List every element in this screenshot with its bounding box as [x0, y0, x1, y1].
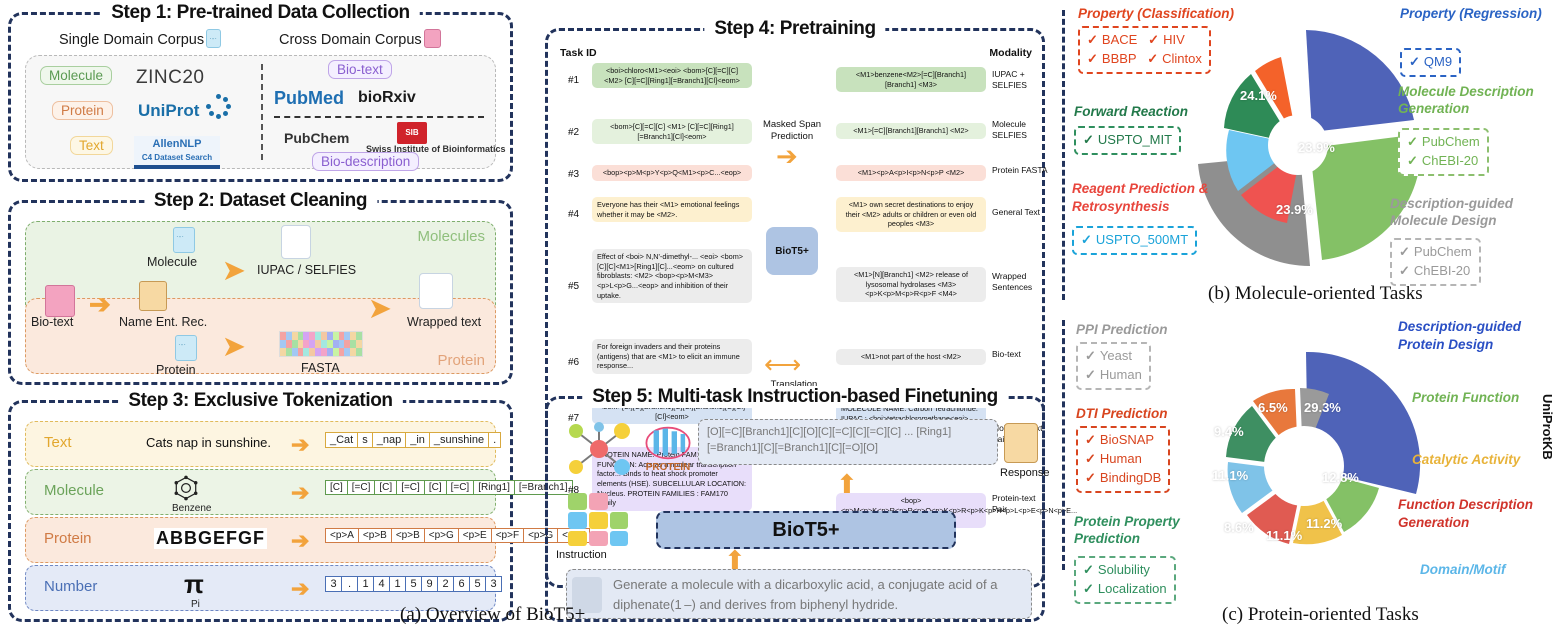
pie-c-value-0: 29.3%	[1304, 400, 1341, 415]
token: <p>B	[358, 528, 392, 543]
annobox-dti-prediction: ✓BioSNAP ✓Human ✓BindingDB	[1076, 426, 1170, 493]
task-modality: Wrapped Sentences	[992, 271, 1048, 292]
check-icon: ✓	[1081, 232, 1092, 247]
check-icon: ✓	[1407, 153, 1418, 168]
node-ner-label: Name Ent. Rec.	[119, 315, 207, 329]
arrow-biotext-to-ner: ➔	[89, 291, 111, 317]
pie-c-value-6: 9.4%	[1214, 424, 1244, 439]
selfies-doc-icon	[281, 225, 311, 259]
logo-biorxiv: bioRxiv	[358, 89, 416, 107]
logo-pubchem: PubChem	[284, 130, 349, 146]
logo-zinc20: ZINC20	[136, 67, 204, 89]
step2-title: Step 2: Dataset Cleaning	[144, 190, 377, 212]
task-id: #6	[568, 357, 579, 368]
row-label-text: Text	[44, 434, 72, 451]
arrow-tokenize-text: ➔	[291, 432, 309, 458]
token: _sunshine	[429, 432, 489, 448]
row-label-number: Number	[44, 578, 97, 595]
anno-domain-motif: Domain/Motif	[1420, 562, 1506, 577]
uniprot-dots-icon	[204, 94, 230, 120]
arrow-to-iupac: ➤	[223, 257, 245, 283]
row-source-molecule: Benzene	[172, 503, 211, 514]
token: [=C]	[347, 480, 376, 495]
check-icon: ✓	[1083, 562, 1094, 577]
pie-b-value-0: 24.1%	[1240, 88, 1277, 103]
token: <p>A	[325, 528, 359, 543]
step1-title: Step 1: Pre-trained Data Collection	[101, 2, 420, 24]
node-molecule-label: Molecule	[147, 255, 197, 269]
pie-b-value-2: 23.9%	[1276, 202, 1313, 217]
pie-c-value-3: 11.1%	[1266, 528, 1302, 543]
task-output-cell: <M1>benzene<M2>[=C][Branch1][Branch1] <M…	[836, 67, 986, 92]
tag-text: Text	[70, 136, 113, 155]
row-source-protein: ABBGEFGF	[154, 528, 267, 549]
anno-catalytic-activity: Catalytic Activity	[1412, 452, 1520, 467]
logo-uniprot: UniProt	[138, 101, 199, 121]
check-icon: ✓	[1087, 32, 1098, 47]
document-stack-icon	[424, 29, 441, 48]
token: _nap	[372, 432, 406, 448]
task-modality: Molecule SELFIES	[992, 119, 1046, 140]
benzene-structure-icon	[166, 473, 206, 503]
token: [C]	[374, 480, 397, 495]
token: <p>F	[491, 528, 524, 543]
task-output-cell: <M1> own secret destinations to enjoy th…	[836, 197, 986, 232]
number-blocks-icon	[566, 491, 630, 547]
token: [=C]	[446, 480, 475, 495]
token: <p>G	[424, 528, 459, 543]
arrow-to-wrapped: ➤	[369, 295, 391, 321]
instruction-box: Generate a molecule with a dicarboxylic …	[566, 569, 1032, 619]
response-avatar-icon	[1004, 423, 1038, 463]
step3-title: Step 3: Exclusive Tokenization	[118, 390, 402, 412]
token: 3	[485, 576, 502, 592]
task-input-cell: For foreign invaders and their proteins …	[592, 339, 752, 374]
node-fasta-label: FASTA	[301, 361, 340, 375]
task-output-cell: <M1>[=C][Branch1][Branch1] <M2>	[836, 123, 986, 139]
row-label-protein: Protein	[44, 530, 92, 547]
biotext-stack-icon	[45, 285, 75, 317]
token: 5	[469, 576, 486, 592]
arrow-to-fasta: ➤	[223, 333, 245, 359]
protein-pie-chart: 29.3% 12.8% 11.2% 11.1% 8.6% 11.1% 9.4% …	[1196, 318, 1426, 598]
tokens-number: 3 . 1 4 1 5 9 2 6 5 3	[326, 576, 502, 592]
task-output-cell: <M1>not part of the host <M2>	[836, 349, 986, 365]
step4-title: Step 4: Pretraining	[704, 18, 885, 40]
token: .	[488, 432, 501, 448]
token: 4	[373, 576, 390, 592]
step1-corpus-box: Molecule Protein Text ZINC20 UniProt All…	[25, 55, 496, 169]
anno-dti-prediction: DTI Prediction	[1076, 406, 1168, 421]
task-id: #1	[568, 75, 579, 86]
annobox-protein-property-prediction: ✓Solubility ✓Localization	[1074, 556, 1176, 604]
single-domain-corpus-heading: Single Domain Corpus	[59, 29, 221, 48]
task-input-cell: Everyone has their <M1> emotional feelin…	[592, 197, 752, 222]
token: _in	[405, 432, 430, 448]
pie-c-value-4: 8.6%	[1224, 520, 1254, 535]
token: 6	[453, 576, 470, 592]
check-icon: ✓	[1409, 54, 1420, 69]
logo-allennlp: AllenNLP C4 Dataset Search	[134, 136, 220, 169]
panel-divider-bottom	[1062, 320, 1065, 570]
token: [Ring1]	[473, 480, 515, 495]
check-icon: ✓	[1083, 581, 1094, 596]
annobox-property-regression: ✓QM9	[1400, 48, 1461, 77]
step2-panel: Step 2: Dataset Cleaning Molecules Prote…	[8, 200, 513, 385]
protein-zone-label: Protein	[437, 352, 485, 369]
arrow-tokenize-protein: ➔	[291, 528, 309, 554]
annobox-ppi-prediction: ✓Yeast ✓Human	[1076, 342, 1151, 390]
molecules-zone-label: Molecules	[417, 228, 485, 245]
caption-a: (a) Overview of BioT5+	[400, 604, 585, 626]
response-box: [O][=C][Branch1][C][O][C][=C][C][=C][C] …	[698, 419, 998, 465]
response-label: Response	[1000, 467, 1050, 479]
tag-bio-description: Bio-description	[312, 152, 419, 171]
check-icon: ✓	[1083, 132, 1094, 147]
token: 9	[421, 576, 438, 592]
protein-logo-icon: PROTEIN	[640, 425, 696, 477]
pie-c-value-5: 11.1%	[1212, 468, 1248, 483]
task-id: #4	[568, 209, 579, 220]
molecule-doc-icon	[173, 227, 195, 253]
task-id: #5	[568, 281, 579, 292]
token: 1	[389, 576, 406, 592]
token: 2	[437, 576, 454, 592]
task-modality: General Text	[992, 207, 1048, 218]
cross-domain-corpus-heading: Cross Domain Corpus	[279, 29, 441, 48]
task-id: #3	[568, 169, 579, 180]
tag-protein: Protein	[52, 101, 113, 120]
check-icon: ✓	[1399, 244, 1410, 259]
task-input-cell: <boi>chloro<M1><eoi> <bom>[C][=C][C] <M2…	[592, 63, 752, 88]
arrow-tokenize-number: ➔	[291, 576, 309, 602]
annobox-molecule-description-generation: ✓PubChem ✓ChEBI-20	[1398, 128, 1489, 176]
check-icon: ✓	[1085, 432, 1096, 447]
cross-corpus-divider	[274, 116, 484, 118]
row-source-number: Pi	[191, 599, 200, 610]
document-icon	[206, 29, 221, 48]
caption-b: (b) Molecule-oriented Tasks	[1208, 283, 1423, 305]
logo-sib: SIB Swiss Institute of Bioinformatics	[366, 122, 458, 155]
check-icon: ✓	[1085, 451, 1096, 466]
masked-span-prediction-label: Masked Span Prediction	[744, 119, 840, 143]
check-icon: ✓	[1085, 470, 1096, 485]
annobox-property-classification: ✓BACE ✓HIV ✓BBBP ✓Clintox	[1078, 26, 1211, 74]
caption-c: (c) Protein-oriented Tasks	[1222, 604, 1419, 626]
tag-bio-text: Bio-text	[328, 60, 392, 79]
node-biotext-label: Bio-text	[31, 315, 73, 329]
anno-protein-function: Protein Function	[1412, 390, 1519, 405]
check-icon: ✓	[1399, 263, 1410, 278]
token: _Cat	[325, 432, 358, 448]
pi-symbol-icon: π	[184, 571, 204, 597]
node-wrapped-label: Wrapped text	[407, 315, 481, 329]
step1-corpus-headings: Single Domain Corpus Cross Domain Corpus	[11, 29, 510, 51]
ner-robot-icon	[139, 281, 167, 311]
token: <p>E	[458, 528, 492, 543]
token: 3	[325, 576, 342, 592]
token: s	[357, 432, 373, 448]
token-row-protein: Protein ABBGEFGF ➔ <p>A <p>B <p>B <p>G <…	[25, 517, 496, 563]
anno-reagent-prediction-retrosynthesis: Reagent Prediction & Retrosynthesis	[1072, 180, 1232, 215]
sib-mark-icon: SIB	[397, 122, 427, 144]
task-id: #2	[568, 127, 579, 138]
pie-b-value-1: 23.9%	[1298, 140, 1335, 155]
check-icon: ✓	[1085, 367, 1096, 382]
step3-panel: Step 3: Exclusive Tokenization Text Cats…	[8, 400, 513, 622]
task-input-cell: <bop><p>M<p>Y<p>Q<M1><p>C...<eop>	[592, 165, 752, 181]
anno-property-classification: Property (Classification)	[1078, 6, 1234, 21]
check-icon: ✓	[1148, 32, 1159, 47]
tag-molecule: Molecule	[40, 66, 112, 85]
annobox-forward-reaction: ✓USPTO_MIT	[1074, 126, 1181, 155]
token: 1	[357, 576, 374, 592]
step5-title: Step 5: Multi-task Instruction-based Fin…	[582, 386, 1008, 408]
arrow-tokenize-molecule: ➔	[291, 480, 309, 506]
tokens-text: _Cat s _nap _in _sunshine .	[326, 432, 501, 448]
protein-doc-icon	[175, 335, 197, 361]
panel-divider-top	[1062, 10, 1065, 300]
token: <p>B	[391, 528, 425, 543]
anno-protein-property-prediction: Protein Property Prediction	[1074, 514, 1214, 548]
step1-panel: Step 1: Pre-trained Data Collection Sing…	[8, 12, 513, 182]
token: .	[341, 576, 358, 592]
translation-arrow-icon: ⟷	[764, 349, 801, 380]
task-modality: Bio-text	[992, 349, 1048, 360]
task-output-cell: <M1><p>A<p>I<p>N<p>P <M2>	[836, 165, 986, 181]
task-modality: IUPAC + SELFIES	[992, 69, 1046, 90]
anno-function-description-generation: Function Description Generation	[1398, 496, 1548, 531]
anno-property-regression: Property (Regression)	[1400, 6, 1550, 21]
annobox-description-guided-molecule-design: ✓PubChem ✓ChEBI-20	[1390, 238, 1481, 286]
token: 5	[405, 576, 422, 592]
fasta-sequence-icon	[279, 331, 363, 357]
wrapped-doc-icon	[419, 273, 453, 309]
anno-ppi-prediction: PPI Prediction	[1076, 322, 1168, 337]
anno-molecule-description-generation: Molecule Description Generation	[1398, 84, 1558, 118]
pie-c-value-2: 11.2%	[1306, 516, 1342, 531]
task-input-cell: Effect of <boi> N,N'-dimethyl-... <eoi> …	[592, 249, 752, 303]
masked-span-arrow-icon: ➔	[776, 143, 798, 169]
instruction-label: Instruction	[556, 549, 607, 561]
task-output-cell: <M1>[N][Branch1] <M2> release of lysosom…	[836, 267, 986, 302]
task-modality: Protein FASTA	[992, 165, 1050, 176]
node-protein-label: Protein	[156, 363, 196, 377]
step5-panel: Step 5: Multi-task Instruction-based Fin…	[545, 396, 1045, 622]
check-icon: ✓	[1147, 51, 1158, 66]
uniprotkb-group-label: UniProtKB	[1540, 394, 1555, 460]
biot5-finetune-box: BioT5+	[656, 511, 956, 549]
check-icon: ✓	[1087, 51, 1098, 66]
token: [C]	[325, 480, 348, 495]
logo-pubmed: PubMed	[274, 88, 344, 109]
anno-forward-reaction: Forward Reaction	[1074, 104, 1188, 119]
molecule-graph-icon	[566, 421, 632, 477]
anno-description-guided-protein-design: Description-guided Protein Design	[1398, 318, 1548, 353]
token: [C]	[424, 480, 447, 495]
token: [=C]	[396, 480, 425, 495]
col-header-modality: Modality	[989, 47, 1032, 59]
check-icon: ✓	[1085, 348, 1096, 363]
check-icon: ✓	[1407, 134, 1418, 149]
annobox-reagent-prediction-retrosynthesis: ✓USPTO_500MT	[1072, 226, 1197, 255]
tokens-molecule: [C] [=C] [C] [=C] [C] [=C] [Ring1] [=Bra…	[326, 480, 573, 495]
row-source-text: Cats nap in sunshine.	[146, 435, 271, 450]
row-label-molecule: Molecule	[44, 482, 104, 499]
pie-c-value-7: 6.5%	[1258, 400, 1288, 415]
col-header-task-id: Task ID	[560, 47, 597, 59]
arrow-model-to-response: ⬆	[836, 471, 858, 497]
node-iupac-selfies-label: IUPAC / SELFIES	[257, 263, 356, 277]
token-row-text: Text Cats nap in sunshine. ➔ _Cat s _nap…	[25, 421, 496, 467]
pie-c-value-1: 12.8%	[1322, 470, 1359, 485]
anno-description-guided-molecule-design: Description-guided Molecule Design	[1390, 196, 1550, 230]
task-input-cell: <bom>[C][=C][C] <M1> [C][=C][Ring1][=Bra…	[592, 119, 752, 144]
token-row-molecule: Molecule Benzene ➔ [C] [=C] [C] [=C] [C]…	[25, 469, 496, 515]
biot5-model-box: BioT5+	[766, 227, 818, 275]
corpus-divider	[261, 64, 263, 160]
